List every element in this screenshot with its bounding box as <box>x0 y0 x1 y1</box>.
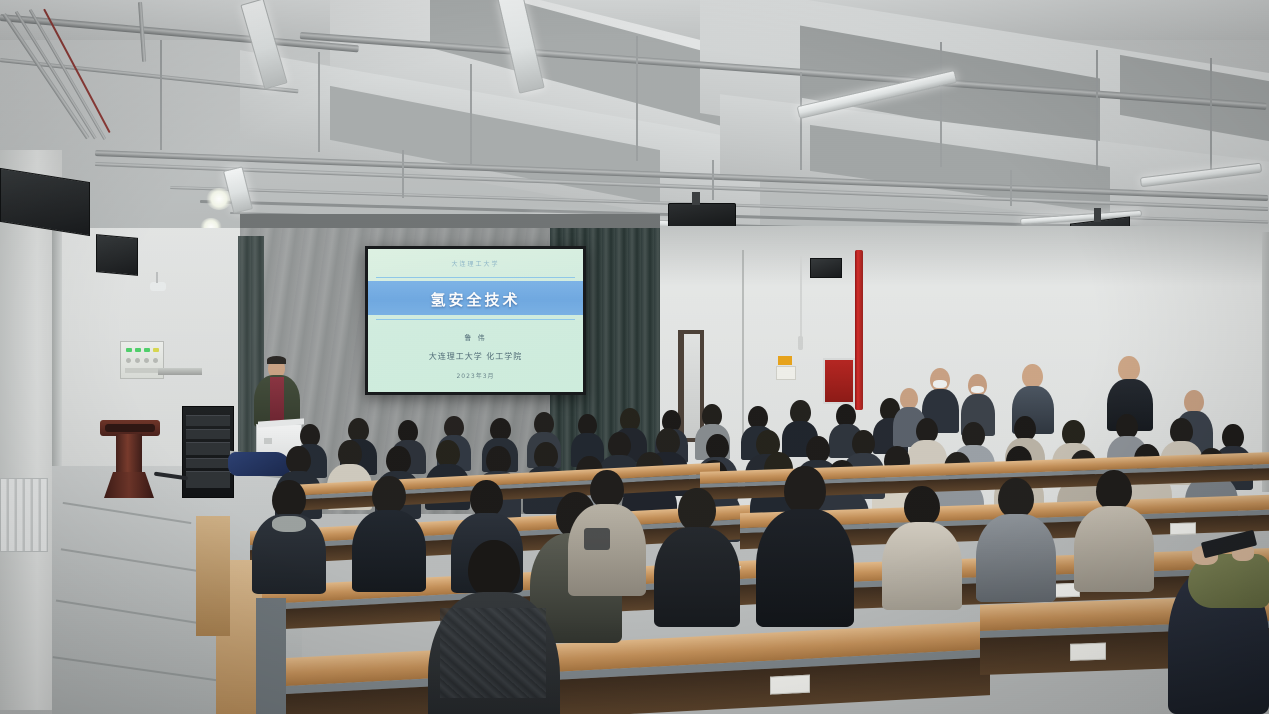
wooden-lectern-column <box>116 434 142 476</box>
wall-notice <box>776 366 796 380</box>
rear-wall-speaker <box>810 258 842 278</box>
presentation-slide: 大连理工大学 氢安全技术 鲁 伟 大连理工大学 化工学院 2023年3月 <box>368 249 583 392</box>
slide-divider-top <box>376 277 575 278</box>
seat-number-label <box>770 675 810 695</box>
av-equipment-rack[interactable] <box>182 406 234 498</box>
blue-coat-on-desk <box>228 452 290 476</box>
open-doorway[interactable] <box>684 334 700 438</box>
ceiling <box>0 0 1269 250</box>
slide-affiliation: 大连理工大学 化工学院 <box>368 351 583 362</box>
presenter-shirt <box>270 377 284 421</box>
wall-warning-sign <box>778 356 792 365</box>
pendant-bulb <box>206 188 232 210</box>
aisle-step <box>256 598 286 714</box>
projection-screen: 大连理工大学 氢安全技术 鲁 伟 大连理工大学 化工学院 2023年3月 <box>365 246 586 395</box>
fire-standpipe <box>855 250 863 410</box>
left-ceiling-speaker <box>96 234 138 276</box>
slide-title: 氢安全技术 <box>368 289 583 310</box>
slide-divider-bottom <box>376 319 575 320</box>
seat-number-label <box>1170 522 1196 535</box>
surveillance-camera <box>150 282 166 291</box>
fire-hose-cabinet[interactable] <box>823 358 855 404</box>
aisle-step <box>196 516 230 636</box>
slide-presenter: 鲁 伟 <box>368 333 583 343</box>
slide-date: 2023年3月 <box>368 371 583 380</box>
wall-radiator <box>0 478 48 552</box>
seat-number-label <box>1070 643 1106 661</box>
slide-university-logo: 大连理工大学 <box>368 259 583 268</box>
lecture-hall-photo: 大连理工大学 氢安全技术 鲁 伟 大连理工大学 化工学院 2023年3月 <box>0 0 1269 714</box>
lecture-desk-front <box>270 621 990 714</box>
